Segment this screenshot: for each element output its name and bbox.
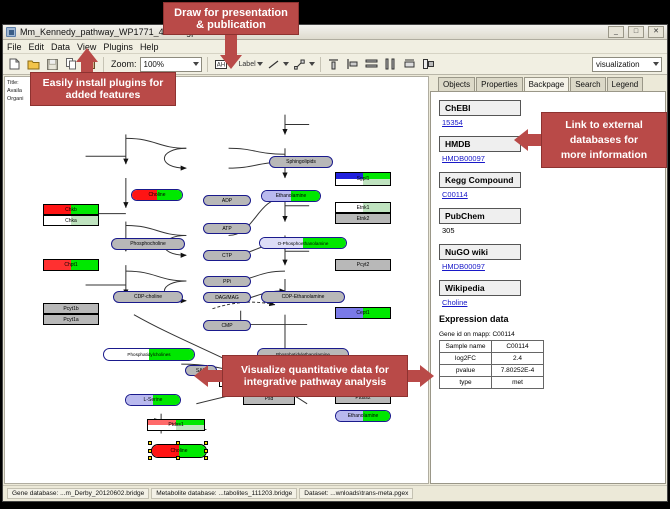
menu-item-file[interactable]: File <box>7 42 22 52</box>
annotation-plugins-line1: Easily install plugins for <box>43 77 164 89</box>
chevron-down-icon-shape[interactable] <box>309 62 315 66</box>
tab-backpage[interactable]: Backpage <box>524 77 570 91</box>
annotation-draw: Draw for presentation & publication <box>163 2 299 35</box>
db-header-pubchem: PubChem <box>439 208 521 224</box>
toolbar-separator <box>103 57 104 72</box>
annotation-visualize-line1: Visualize quantitative data for <box>241 364 389 376</box>
node-label: Ethanolamine <box>348 413 379 419</box>
group-icon[interactable] <box>402 56 418 72</box>
distribute-vertical-icon[interactable] <box>364 56 380 72</box>
expr-key-log2fc: log2FC <box>440 353 492 365</box>
maximize-button[interactable]: □ <box>628 26 644 38</box>
menu-item-plugins[interactable]: Plugins <box>103 42 133 52</box>
line-icon[interactable] <box>266 56 282 72</box>
menu-item-edit[interactable]: Edit <box>29 42 45 52</box>
menu-item-help[interactable]: Help <box>140 42 159 52</box>
expression-data-heading: Expression data <box>439 314 665 324</box>
gene-id-line: Gene id on mapp: C00114 <box>439 331 665 338</box>
db-header-chebi: ChEBI <box>439 100 521 116</box>
anchor-icon[interactable] <box>292 56 308 72</box>
node-sphingolipids[interactable]: Sphingolipids <box>269 156 333 168</box>
node-label: L-Serine <box>144 397 163 403</box>
app-icon <box>6 27 16 37</box>
annotation-draw-stem <box>225 35 237 56</box>
db-value-pubchem: 305 <box>442 226 665 235</box>
menu-item-data[interactable]: Data <box>51 42 70 52</box>
label-tool[interactable]: Label <box>239 61 263 68</box>
node-cdp-choline[interactable]: CDP-choline <box>113 291 183 303</box>
node-label: Phosphocholine <box>130 241 166 247</box>
table-row: pvalue 7.80252E-4 <box>440 365 544 377</box>
save-icon[interactable] <box>44 56 60 72</box>
expr-value-type: met <box>492 377 544 389</box>
node-label: Chpt1 <box>64 262 77 268</box>
annotation-visualize-line2: integrative pathway analysis <box>244 376 386 388</box>
db-header-wikipedia: Wikipedia <box>439 280 521 296</box>
tab-objects[interactable]: Objects <box>438 77 475 91</box>
node-label: CDP-choline <box>134 294 162 300</box>
expr-value-sample-name: C00114 <box>492 341 544 353</box>
minimize-button[interactable]: _ <box>608 26 624 38</box>
node-label: Pcyt2 <box>357 262 370 268</box>
node-o-phosphoethanolamine[interactable]: O-Phosphoethanolamine <box>259 237 347 249</box>
node-cept1[interactable]: Cept1 <box>335 307 391 319</box>
node-etnk2[interactable]: Etnk2 <box>335 213 391 224</box>
toolbar-separator-3 <box>320 57 321 72</box>
align-left-icon[interactable] <box>345 56 361 72</box>
node-phosphocholine[interactable]: Phosphocholine <box>111 238 185 250</box>
side-panel-tabs: Objects Properties Backpage Search Legen… <box>430 76 666 91</box>
db-link-wikipedia[interactable]: Choline <box>442 298 665 307</box>
order-front-icon[interactable] <box>421 56 437 72</box>
node-ptdss1[interactable]: Ptdss1 <box>147 419 205 431</box>
annotation-link-line2: databases for <box>570 133 638 148</box>
selection-handle-se[interactable] <box>204 456 208 460</box>
node-label: Choline <box>149 192 166 198</box>
annotation-plugins-line2: added features <box>66 89 141 101</box>
annotation-link-line1: Link to external <box>565 118 643 133</box>
node-label: Ptdss1 <box>168 422 183 428</box>
node-adp[interactable]: ADP <box>203 195 251 206</box>
zoom-combo[interactable]: 100% <box>140 57 202 72</box>
status-metabolite-database: Metabolite database: ...tabolites_111203… <box>151 488 297 499</box>
selection-handle-ne[interactable] <box>204 441 208 445</box>
table-row: log2FC 2.4 <box>440 353 544 365</box>
title-bar: Mm_Kennedy_pathway_WP1771_45176.gpml _ □… <box>3 25 667 40</box>
node-pcyt1b[interactable]: Pcyt1b <box>43 303 99 314</box>
node-label: PPi <box>223 279 231 285</box>
status-dataset: Dataset: ...wnloads\trans-meta.pgex <box>299 488 413 499</box>
node-chkb[interactable]: Chkb <box>43 204 99 215</box>
node-label: CTP <box>222 253 232 259</box>
node-ctp[interactable]: CTP <box>203 250 251 261</box>
table-row: Sample name C00114 <box>440 341 544 353</box>
chevron-down-icon <box>193 62 199 66</box>
expr-value-log2fc: 2.4 <box>492 353 544 365</box>
annotation-visualize-arrow-right <box>420 365 434 387</box>
zoom-label: Zoom: <box>111 59 137 69</box>
node-atp[interactable]: ATP <box>203 223 251 234</box>
annotation-link-stem <box>528 134 542 146</box>
node-etnk1[interactable]: Etnk1 <box>335 202 391 213</box>
status-bar: Gene database: ...m_Derby_20120602.bridg… <box>3 485 667 501</box>
selection-handle-n[interactable] <box>176 441 180 445</box>
expr-key-pvalue: pvalue <box>440 365 492 377</box>
node-ppi[interactable]: PPi <box>203 276 251 287</box>
node-dagmag[interactable]: DAG/MAG <box>203 292 251 303</box>
node-ethanolamine-bottom[interactable]: Ethanolamine <box>335 410 391 422</box>
new-file-icon[interactable] <box>6 56 22 72</box>
align-top-icon[interactable] <box>326 56 342 72</box>
chevron-down-icon-line[interactable] <box>283 62 289 66</box>
annotation-visualize-stem-right <box>407 370 421 382</box>
annotation-link-arrow <box>514 129 528 151</box>
node-chka[interactable]: Chka <box>43 215 99 226</box>
table-row: type met <box>440 377 544 389</box>
node-label: Phosphatidylcholines <box>127 352 170 357</box>
node-l-serine-left[interactable]: L-Serine <box>125 394 181 406</box>
node-label: ADP <box>222 198 232 204</box>
node-label: Ethanolamine <box>276 193 307 199</box>
status-gene-database: Gene database: ...m_Derby_20120602.bridg… <box>7 488 149 499</box>
annotation-visualize: Visualize quantitative data for integrat… <box>222 355 408 397</box>
chevron-down-icon-label[interactable] <box>257 62 263 66</box>
db-header-nugo-wiki: NuGO wiki <box>439 244 521 260</box>
node-pcyt1a[interactable]: Pcyt1a <box>43 314 99 325</box>
line-tool[interactable] <box>266 56 289 72</box>
tab-properties[interactable]: Properties <box>476 77 522 91</box>
node-label: CMP <box>221 323 232 329</box>
selection-handle-nw[interactable] <box>148 441 152 445</box>
zoom-value: 100% <box>144 60 164 69</box>
annotation-draw-line1: Draw for presentation <box>174 7 288 19</box>
node-label: CDP-Ethanolamine <box>282 294 325 300</box>
node-cmp[interactable]: CMP <box>203 320 251 331</box>
menu-bar: File Edit Data View Plugins Help <box>3 40 667 54</box>
node-label: Etnk2 <box>357 216 370 222</box>
node-label: DAG/MAG <box>215 295 239 301</box>
open-folder-icon[interactable] <box>25 56 41 72</box>
node-label: Pcyt1a <box>63 317 78 323</box>
tab-legend[interactable]: Legend <box>607 77 644 91</box>
node-chpt1[interactable]: Chpt1 <box>43 259 99 271</box>
db-header-hmdb: HMDB <box>439 136 521 152</box>
selection-handle-w[interactable] <box>148 449 152 453</box>
shape-tool[interactable] <box>292 56 315 72</box>
db-link-nugo-wiki[interactable]: HMDB00097 <box>442 262 665 271</box>
pathway-canvas[interactable]: Title: Availa Organi <box>4 76 429 484</box>
db-header-kegg-compound: Kegg Compound <box>439 172 521 188</box>
node-label: Sphingolipids <box>286 159 316 165</box>
node-label: Chkb <box>65 207 77 213</box>
selection-handle-e[interactable] <box>204 449 208 453</box>
node-label: Cept1 <box>356 310 369 316</box>
node-label: Etnk1 <box>357 205 370 211</box>
db-link-kegg-compound[interactable]: C00114 <box>442 190 665 199</box>
annotation-plugins: Easily install plugins for added feature… <box>30 72 176 106</box>
annotation-visualize-arrow-left <box>194 365 208 387</box>
annotation-plugins-arrow <box>76 48 98 62</box>
selection-handle-sw[interactable] <box>148 456 152 460</box>
annotation-link-line3: more information <box>561 148 647 163</box>
node-ethanolamine[interactable]: Ethanolamine <box>261 190 321 202</box>
expression-table: Sample name C00114 log2FC 2.4 pvalue 7.8… <box>439 340 544 389</box>
node-choline-top[interactable]: Choline <box>131 189 183 201</box>
annotation-draw-arrow <box>220 55 242 69</box>
visualization-combo[interactable]: visualization <box>592 57 662 72</box>
annotation-visualize-stem-left <box>208 370 223 382</box>
expr-key-type: type <box>440 377 492 389</box>
close-button[interactable]: ✕ <box>648 26 664 38</box>
tab-search[interactable]: Search <box>570 77 605 91</box>
node-sgpl1[interactable]: Sgpl1 <box>335 172 391 186</box>
expr-key-sample-name: Sample name <box>440 341 492 353</box>
node-label: Sgpl1 <box>357 176 370 182</box>
chevron-down-icon-visualization <box>653 62 659 66</box>
toolbar-separator-2 <box>207 57 208 72</box>
node-phosphatidylcholines[interactable]: Phosphatidylcholines <box>103 348 195 361</box>
node-label: ATP <box>222 226 231 232</box>
annotation-draw-line2: & publication <box>196 19 266 31</box>
selection-handle-s[interactable] <box>176 456 180 460</box>
distribute-horizontal-icon[interactable] <box>383 56 399 72</box>
annotation-link: Link to external databases for more info… <box>541 112 667 168</box>
node-label: Chka <box>65 218 77 224</box>
node-label: Choline <box>171 448 188 454</box>
node-label: O-Phosphoethanolamine <box>278 241 329 246</box>
node-cdp-ethanolamine[interactable]: CDP-Ethanolamine <box>261 291 345 303</box>
visualization-value: visualization <box>596 60 640 69</box>
node-label: Pcyt1b <box>63 306 78 312</box>
expr-value-pvalue: 7.80252E-4 <box>492 365 544 377</box>
node-pcyt2[interactable]: Pcyt2 <box>335 259 391 271</box>
